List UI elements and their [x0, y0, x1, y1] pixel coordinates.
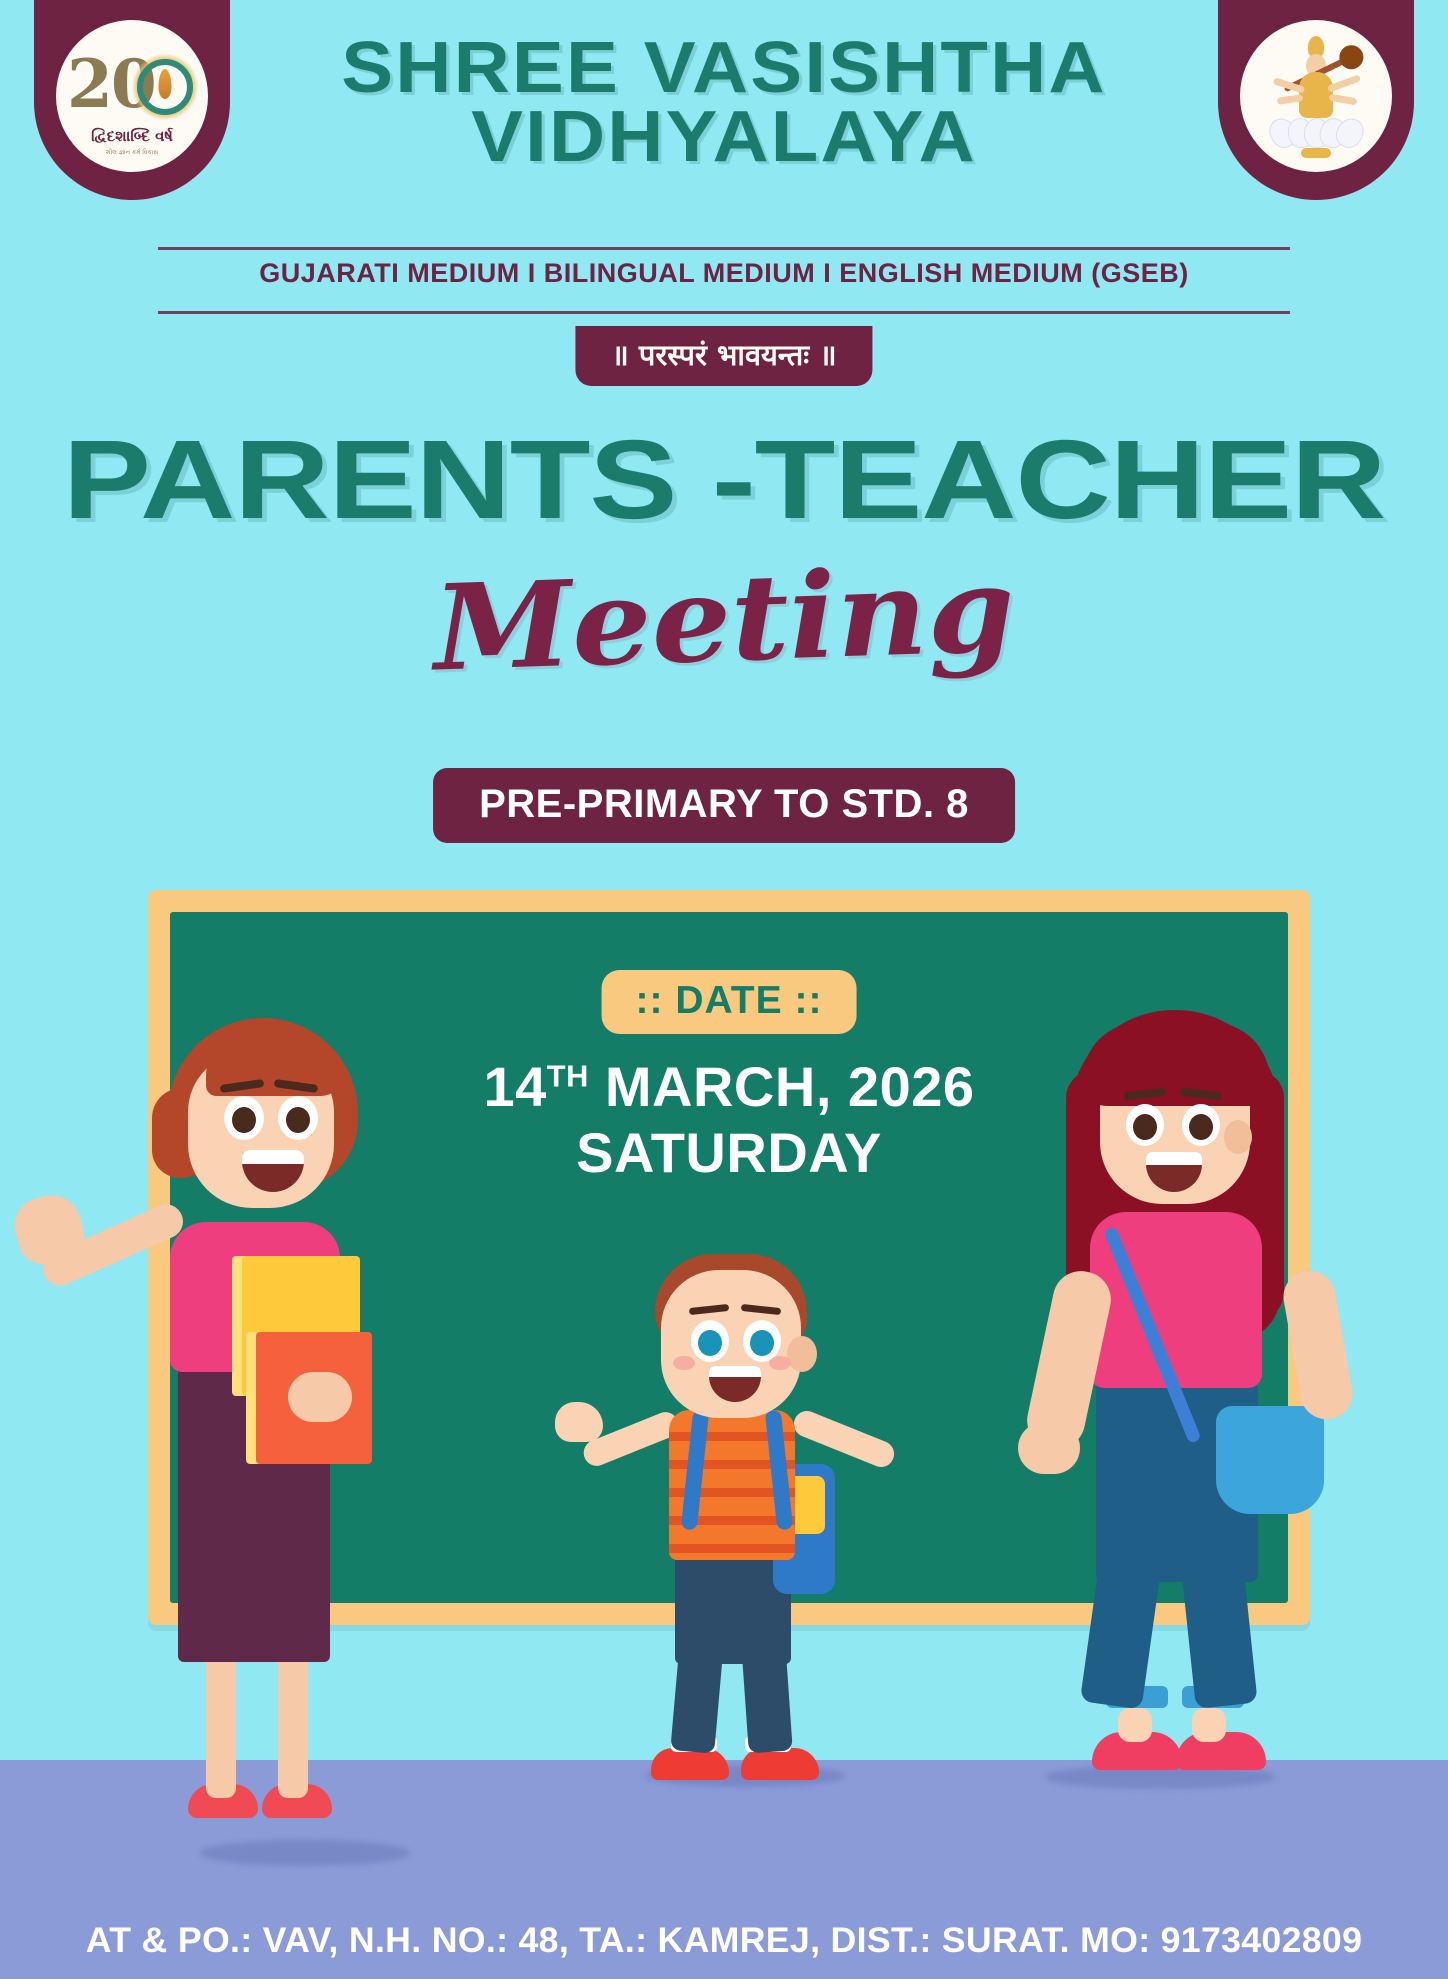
lotus-icon	[1270, 114, 1362, 148]
teacher-eye	[224, 1096, 264, 1140]
divider-bottom	[158, 311, 1290, 314]
flame-ring-icon	[137, 59, 193, 115]
anniversary-logo-disc: 20 દ્વિદશાબ્દિ વર્ષ શીલ જ્ઞાન કર્મ વિકાસ	[56, 20, 208, 172]
shoulder-bag	[1216, 1406, 1324, 1514]
boy-shoe	[741, 1748, 819, 1780]
footer-address: AT & PO.: VAV, N.H. NO.: 48, TA.: KAMREJ…	[0, 1921, 1448, 1961]
sanskrit-shloka-banner: ॥ परस्परं भावयन्तः ॥	[575, 326, 872, 386]
boy-cheek	[769, 1356, 791, 1370]
right-logo-tab	[1218, 0, 1414, 200]
event-date-month-year: MARCH, 2026	[589, 1055, 975, 1118]
boy-cheek	[673, 1356, 695, 1370]
poster-root: 20 દ્વિદશાબ્દિ વર્ષ શીલ જ્ઞાન કર્મ વિકાસ	[0, 0, 1448, 1979]
mother-ear	[1224, 1120, 1252, 1154]
mother-eye	[1126, 1104, 1164, 1146]
anniversary-gujarati-caption: દ્વિદશાબ્દિ વર્ષ	[61, 127, 203, 145]
goddess-body	[1299, 72, 1333, 118]
left-logo-tab: 20 દ્વિદશાબ્દિ વર્ષ શીલ જ્ઞાન કર્મ વિકાસ	[34, 0, 230, 200]
anniversary-sub-caption: શીલ જ્ઞાન કર્મ વિકાસ	[61, 149, 203, 157]
event-date-ordinal: TH	[547, 1058, 589, 1093]
boy-ear	[787, 1336, 817, 1372]
teacher-leg	[278, 1650, 308, 1798]
twenty-years-anniversary-logo: 20 દ્વિદશાબ્દિ વર્ષ શીલ જ્ઞાન કર્મ વિકાસ	[61, 25, 203, 167]
date-label-badge: :: DATE ::	[602, 970, 857, 1034]
teacher-leg	[206, 1650, 236, 1798]
saraswati-logo-disc	[1240, 20, 1392, 172]
boy-open-hand	[555, 1402, 603, 1442]
grade-range-badge: PRE-PRIMARY TO STD. 8	[433, 768, 1015, 843]
mediums-line: GUJARATI MEDIUM I BILINGUAL MEDIUM I ENG…	[0, 258, 1448, 289]
illustration-scene: :: DATE :: 14TH MARCH, 2026 SATURDAY	[0, 860, 1448, 1979]
page-title: PARENTS -TEACHER	[0, 424, 1448, 536]
teacher-holding-hand	[288, 1372, 352, 1422]
saraswati-goddess-logo	[1251, 30, 1381, 162]
mother-foot	[1118, 1708, 1152, 1742]
mother-eye	[1182, 1104, 1220, 1146]
mother-character	[978, 970, 1378, 1790]
mother-hand	[1018, 1422, 1080, 1474]
schoolboy-character	[595, 1250, 875, 1790]
mother-arm	[1279, 1267, 1356, 1424]
event-weekday: SATURDAY	[576, 1120, 882, 1185]
mother-hair-bang	[1082, 1022, 1270, 1106]
teacher-eye	[278, 1096, 318, 1140]
teacher-shadow	[200, 1840, 410, 1866]
boy-eye	[691, 1320, 729, 1362]
boy-shoe	[651, 1748, 729, 1780]
event-date-day: 14	[483, 1055, 546, 1118]
event-date: 14TH MARCH, 2026	[483, 1057, 974, 1117]
goddess-foot	[1301, 148, 1331, 158]
goddess-arm	[1327, 74, 1361, 92]
divider-top	[158, 247, 1290, 250]
mother-foot	[1192, 1708, 1226, 1742]
teacher-character	[10, 960, 430, 1780]
page-title-script: Meeting	[0, 535, 1448, 703]
